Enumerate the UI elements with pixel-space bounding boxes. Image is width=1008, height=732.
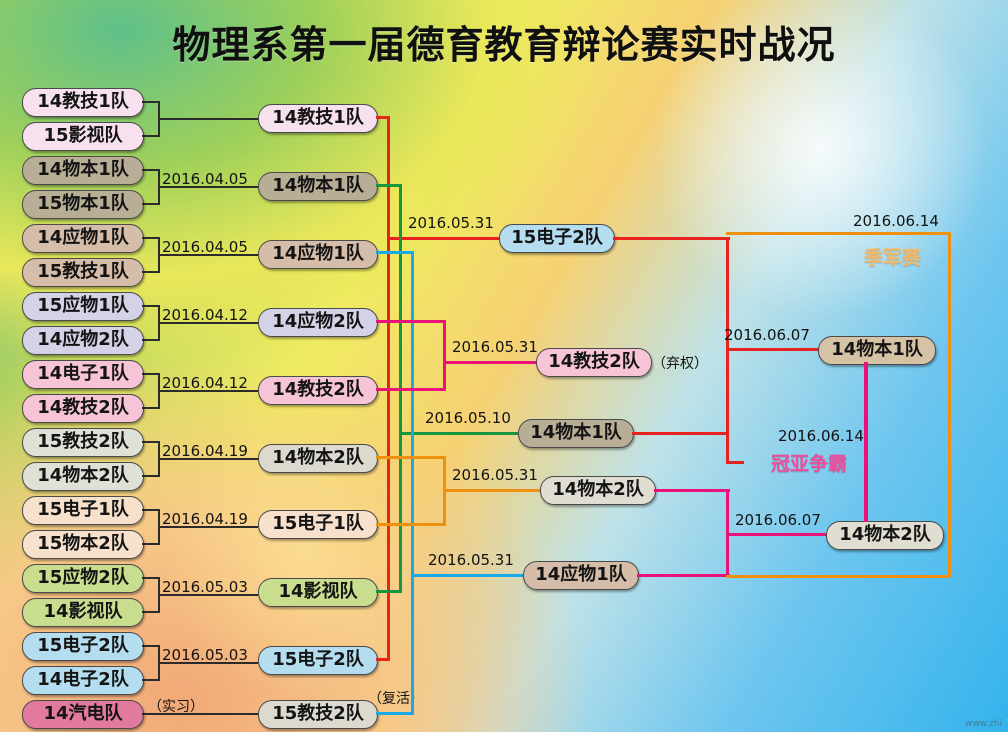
bracket-line-magenta — [726, 533, 826, 536]
team-box[interactable]: 15电子1队 — [22, 496, 144, 525]
bracket-canvas: 物理系第一届德育教育辩论赛实时战况 14教技1队 15影视队 14物本1队 15… — [0, 0, 1008, 732]
team-box[interactable]: 15电子2队 — [258, 646, 378, 675]
team-box[interactable]: 14物本1队 — [22, 156, 144, 185]
team-box[interactable]: 14教技1队 — [258, 104, 378, 133]
team-box[interactable]: 14物本2队 — [826, 521, 944, 550]
bracket-line-magenta — [376, 320, 446, 323]
bracket-line-magenta — [443, 320, 446, 390]
bracket-line-orange — [376, 456, 446, 459]
bracket-line-magenta — [637, 574, 730, 577]
bracket-line-orange — [443, 489, 541, 492]
match-date: 2016.05.10 — [425, 409, 511, 427]
team-box[interactable]: 15物本1队 — [22, 190, 144, 219]
bracket-line-green — [399, 432, 519, 435]
championship-line — [864, 362, 868, 522]
team-box[interactable]: 15应物1队 — [22, 292, 144, 321]
team-box[interactable]: 14电子2队 — [22, 666, 144, 695]
match-date: 2016.05.31 — [452, 338, 538, 356]
page-title: 物理系第一届德育教育辩论赛实时战况 — [0, 14, 1008, 69]
match-date: 2016.05.03 — [162, 646, 248, 664]
match-date: 2016.04.05 — [162, 170, 248, 188]
bracket-line-red — [613, 237, 730, 240]
team-box[interactable]: 15应物2队 — [22, 564, 144, 593]
bracket-line-orange — [376, 523, 446, 526]
team-box[interactable]: 15影视队 — [22, 122, 144, 151]
team-box[interactable]: 14影视队 — [258, 578, 378, 607]
team-box[interactable]: 15电子1队 — [258, 510, 378, 539]
team-box[interactable]: 14物本1队 — [258, 172, 378, 201]
team-box[interactable]: 14应物2队 — [22, 326, 144, 355]
match-date: 2016.04.19 — [162, 510, 248, 528]
team-box[interactable]: 15电子2队 — [499, 224, 615, 253]
match-date: 2016.06.07 — [735, 511, 821, 529]
team-box[interactable]: 14物本2队 — [540, 476, 656, 505]
team-box[interactable]: 15教技2队 — [258, 700, 378, 729]
team-box[interactable]: 14教技2队 — [536, 348, 652, 377]
match-date: 2016.05.31 — [428, 551, 514, 569]
team-box[interactable]: 15教技1队 — [22, 258, 144, 287]
team-box[interactable]: 14汽电队 — [22, 700, 144, 729]
revive-note: （复活） — [368, 688, 424, 708]
bracket-line-red — [387, 237, 500, 240]
team-box[interactable]: 15电子2队 — [22, 632, 144, 661]
internship-note: （实习） — [148, 696, 204, 716]
bracket-line-magenta — [654, 489, 730, 492]
bronze-label: 季军赛 — [864, 243, 921, 270]
team-box[interactable]: 14应物1队 — [523, 561, 639, 590]
match-date: 2016.06.07 — [724, 326, 810, 344]
bronze-line — [726, 575, 950, 578]
match-date: 2016.05.03 — [162, 578, 248, 596]
forfeit-note: （弃权） — [652, 353, 708, 373]
watermark: www.zhi — [965, 719, 1002, 729]
bracket-line-red — [632, 432, 728, 435]
match-date: 2016.04.12 — [162, 374, 248, 392]
match-date: 2016.05.31 — [452, 466, 538, 484]
bracket-line-magenta — [376, 388, 446, 391]
bracket-line-red — [726, 348, 826, 351]
bronze-line — [948, 232, 951, 577]
bronze-line — [726, 232, 950, 235]
team-box[interactable]: 14影视队 — [22, 598, 144, 627]
team-box[interactable]: 14应物1队 — [258, 240, 378, 269]
match-date: 2016.04.05 — [162, 238, 248, 256]
match-date: 2016.05.31 — [408, 214, 494, 232]
team-box[interactable]: 15教技2队 — [22, 428, 144, 457]
bronze-date: 2016.06.14 — [853, 212, 939, 230]
team-box[interactable]: 14电子1队 — [22, 360, 144, 389]
team-box[interactable]: 15物本2队 — [22, 530, 144, 559]
championship-label: 冠亚争霸 — [771, 449, 847, 476]
match-date: 2016.04.12 — [162, 306, 248, 324]
match-date: 2016.04.19 — [162, 442, 248, 460]
championship-date: 2016.06.14 — [778, 427, 864, 445]
bracket-line-blue — [411, 574, 524, 577]
team-box[interactable]: 14应物1队 — [22, 224, 144, 253]
team-box[interactable]: 14教技2队 — [258, 376, 378, 405]
team-box[interactable]: 14物本2队 — [22, 462, 144, 491]
team-box[interactable]: 14应物2队 — [258, 308, 378, 337]
bracket-line-blue — [376, 251, 414, 254]
bracket-line-magenta — [443, 361, 537, 364]
team-box[interactable]: 14物本2队 — [258, 444, 378, 473]
team-box[interactable]: 14物本1队 — [818, 336, 936, 365]
bracket-line-blue — [376, 712, 414, 715]
bracket-line-red — [726, 461, 744, 464]
team-box[interactable]: 14教技1队 — [22, 88, 144, 117]
bracket-line — [158, 118, 258, 120]
team-box[interactable]: 14教技2队 — [22, 394, 144, 423]
team-box[interactable]: 14物本1队 — [518, 419, 634, 448]
